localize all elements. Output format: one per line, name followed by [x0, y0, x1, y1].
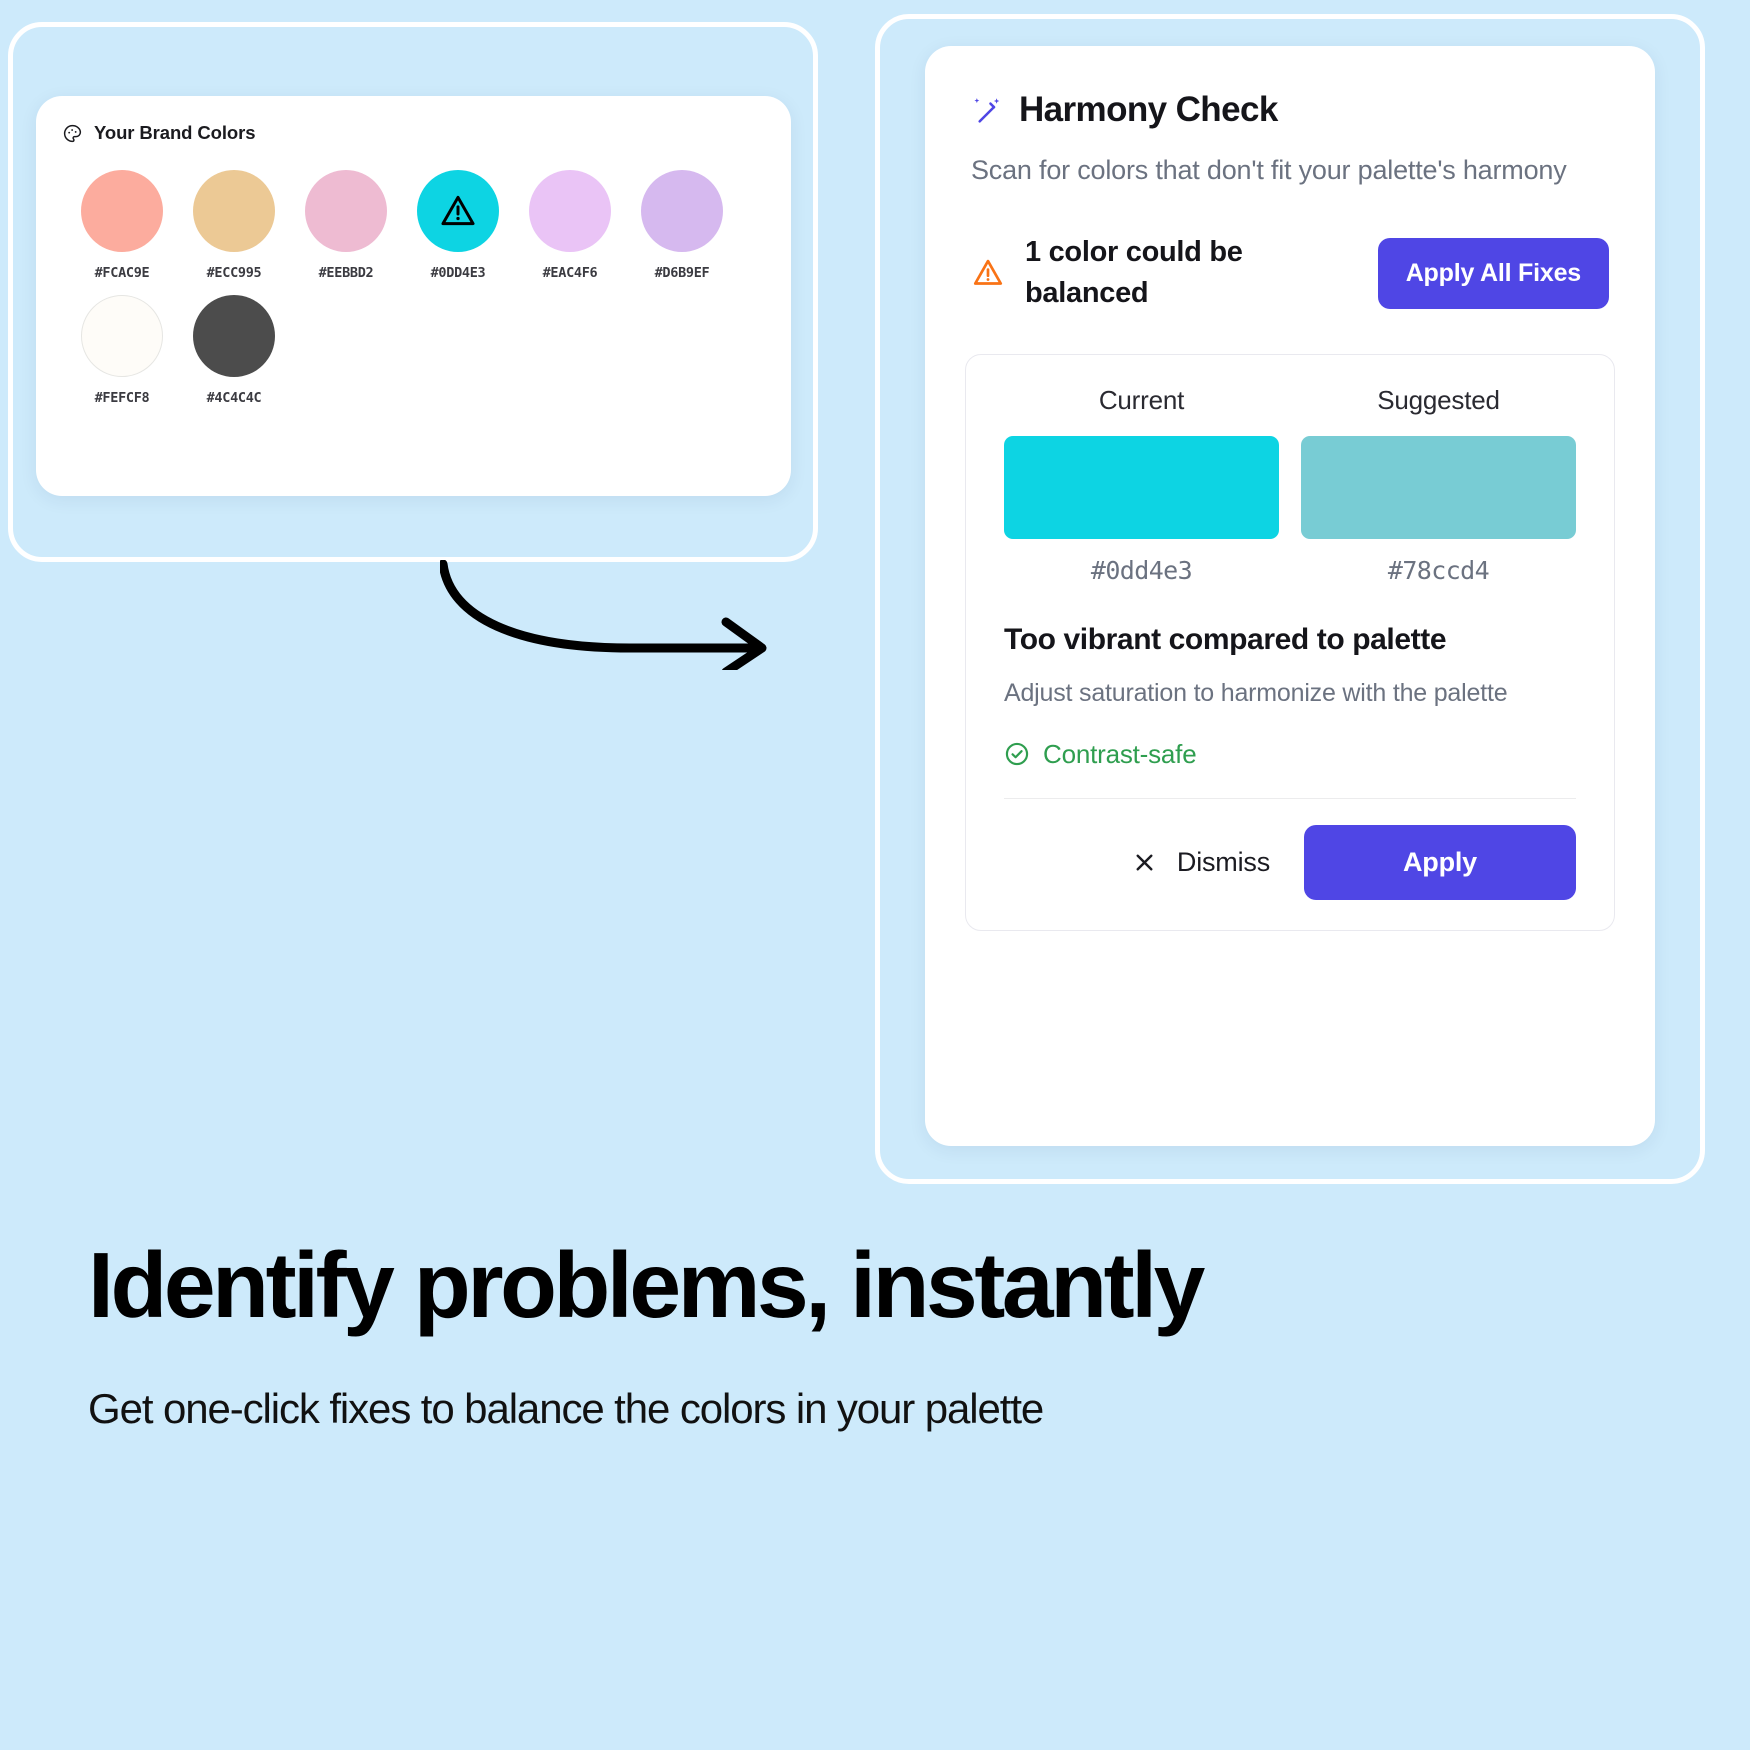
swatch-hex-label: #EAC4F6	[543, 265, 598, 281]
swatch-dot[interactable]	[193, 295, 275, 377]
curved-arrow-icon	[440, 560, 810, 670]
warning-triangle-icon	[971, 256, 1005, 290]
swatch-dot[interactable]	[641, 170, 723, 252]
contrast-safe-badge: Contrast-safe	[1004, 739, 1576, 770]
brand-swatch[interactable]: #ECC995	[178, 170, 290, 281]
contrast-safe-label: Contrast-safe	[1043, 739, 1196, 770]
suggested-color-chip[interactable]	[1301, 436, 1576, 539]
suggestion-footer: Dismiss Apply	[1004, 825, 1576, 900]
brand-swatch[interactable]: #FEFCF8	[66, 295, 178, 406]
harmony-description: Scan for colors that don't fit your pale…	[971, 150, 1609, 192]
palette-icon	[62, 123, 83, 144]
brand-colors-header: Your Brand Colors	[36, 96, 791, 144]
brand-swatch[interactable]: #FCAC9E	[66, 170, 178, 281]
warning-triangle-icon	[437, 190, 479, 232]
swatch-dot[interactable]	[81, 295, 163, 377]
apply-all-fixes-button[interactable]: Apply All Fixes	[1378, 238, 1609, 309]
swatch-hex-label: #4C4C4C	[207, 390, 262, 406]
swatch-hex-label: #0DD4E3	[431, 265, 486, 281]
swatch-hex-label: #FEFCF8	[95, 390, 150, 406]
swatch-dot[interactable]	[417, 170, 499, 252]
color-comparison: Current #0dd4e3 Suggested #78ccd4	[1004, 385, 1576, 585]
swatch-dot[interactable]	[81, 170, 163, 252]
close-x-icon	[1132, 850, 1157, 875]
swatch-hex-label: #EEBBD2	[319, 265, 374, 281]
harmony-title-row: Harmony Check	[971, 90, 1609, 130]
brand-swatch[interactable]: #4C4C4C	[178, 295, 290, 406]
swatch-dot[interactable]	[193, 170, 275, 252]
current-hex: #0dd4e3	[1091, 556, 1192, 585]
check-circle-icon	[1004, 741, 1030, 767]
issue-description: Adjust saturation to harmonize with the …	[1004, 675, 1576, 713]
current-label: Current	[1099, 385, 1184, 416]
brand-colors-title: Your Brand Colors	[94, 122, 255, 144]
current-color-chip[interactable]	[1004, 436, 1279, 539]
brand-swatch[interactable]: #EEBBD2	[290, 170, 402, 281]
magic-wand-icon	[971, 94, 1003, 126]
comparison-suggested: Suggested #78ccd4	[1301, 385, 1576, 585]
brand-swatch[interactable]: #EAC4F6	[514, 170, 626, 281]
swatch-hex-label: #D6B9EF	[655, 265, 710, 281]
suggested-hex: #78ccd4	[1388, 556, 1489, 585]
dismiss-button[interactable]: Dismiss	[1122, 837, 1304, 888]
suggested-label: Suggested	[1377, 385, 1500, 416]
brand-swatch-grid: #FCAC9E#ECC995#EEBBD2#0DD4E3#EAC4F6#D6B9…	[36, 144, 766, 420]
swatch-dot[interactable]	[529, 170, 611, 252]
harmony-status-text: 1 color could be balanced	[1025, 232, 1351, 314]
dismiss-label: Dismiss	[1177, 847, 1270, 878]
suggestion-card: Current #0dd4e3 Suggested #78ccd4 Too vi…	[965, 354, 1615, 931]
harmony-status-row: 1 color could be balanced Apply All Fixe…	[971, 232, 1609, 314]
comparison-current: Current #0dd4e3	[1004, 385, 1279, 585]
brand-swatch[interactable]: #0DD4E3	[402, 170, 514, 281]
harmony-title: Harmony Check	[1019, 90, 1278, 130]
page-headline: Identify problems, instantly	[88, 1232, 1202, 1339]
harmony-status-left: 1 color could be balanced	[971, 232, 1351, 314]
issue-title: Too vibrant compared to palette	[1004, 623, 1576, 657]
harmony-check-card: Harmony Check Scan for colors that don't…	[925, 46, 1655, 1146]
page-subheadline: Get one-click fixes to balance the color…	[88, 1385, 1043, 1433]
brand-swatch[interactable]: #D6B9EF	[626, 170, 738, 281]
brand-colors-card: Your Brand Colors #FCAC9E#ECC995#EEBBD2#…	[36, 96, 791, 496]
swatch-hex-label: #ECC995	[207, 265, 262, 281]
swatch-hex-label: #FCAC9E	[95, 265, 150, 281]
swatch-dot[interactable]	[305, 170, 387, 252]
suggestion-divider	[1004, 798, 1576, 800]
apply-button[interactable]: Apply	[1304, 825, 1576, 900]
harmony-header-section: Harmony Check Scan for colors that don't…	[925, 46, 1655, 314]
